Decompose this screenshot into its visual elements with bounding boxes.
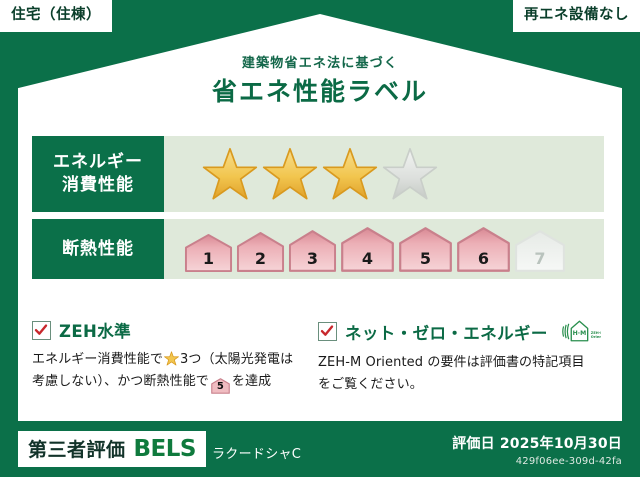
star-icon-filled-1	[202, 147, 258, 201]
criterion-zeh-standard: ZEH水準 エネルギー消費性能で3つ（太陽光発電は考慮しない）、かつ断熱性能で5…	[32, 318, 318, 397]
criterion-body-zeh-post: を達成	[232, 374, 271, 389]
insulation-grade-6: 6	[456, 226, 511, 273]
star-rating	[202, 147, 438, 201]
criterion-header: ネット・ゼロ・エネルギー H·M ZEH-M Oriented	[318, 318, 592, 345]
renewable-energy-tag: 再エネ設備なし	[513, 0, 640, 32]
metric-row-insulation: 断熱性能 1	[32, 219, 604, 279]
insulation-grade-label-5: 5	[420, 249, 431, 268]
insulation-grade-label-2: 2	[255, 249, 266, 268]
metric-value-energy-consumption	[164, 136, 604, 212]
energy-performance-label: 住宅（住棟） 再エネ設備なし 建築物省エネ法に基づく 省エネ性能ラベル エネルギ…	[0, 0, 640, 477]
label-title-block: 建築物省エネ法に基づく 省エネ性能ラベル	[0, 56, 640, 106]
house-badge-icon-inline: 5	[211, 378, 230, 394]
criterion-body-zeh: エネルギー消費性能で3つ（太陽光発電は考慮しない）、かつ断熱性能で5を達成	[32, 349, 306, 394]
evaluation-date: 評価日 2025年10月30日	[452, 433, 622, 453]
title-subtitle: 建築物省エネ法に基づく	[0, 56, 640, 72]
page-title: 省エネ性能ラベル	[0, 78, 640, 107]
metric-label-line-2: 消費性能	[53, 174, 143, 197]
insulation-grade-4: 4	[340, 226, 395, 273]
insulation-grade-label-7: 7	[534, 249, 545, 268]
check-icon	[320, 324, 334, 338]
metric-value-insulation: 1 2 3	[164, 219, 604, 279]
insulation-grade-3: 3	[288, 229, 337, 273]
zehm-logo-hm-text: H·M	[572, 330, 586, 337]
building-type-tag: 住宅（住棟）	[0, 0, 112, 32]
net-zero-energy-checkbox[interactable]	[318, 322, 337, 341]
criterion-title-net-zero: ネット・ゼロ・エネルギー	[345, 320, 548, 344]
criterion-title-zeh: ZEH水準	[59, 318, 131, 342]
building-name: ラクードシャC	[212, 443, 301, 462]
insulation-grade-1: 1	[184, 233, 233, 273]
zehm-logo-line1: ZEH-M	[591, 331, 601, 335]
house-badge-value: 5	[217, 381, 224, 392]
metric-label-line-1: エネルギー	[53, 151, 143, 174]
bels-badge: 第三者評価 BELS	[18, 431, 206, 467]
evaluation-date-label: 評価日	[452, 436, 495, 452]
check-icon	[34, 323, 48, 337]
metric-label-energy-consumption: エネルギー 消費性能	[32, 136, 164, 212]
criteria-section: ZEH水準 エネルギー消費性能で3つ（太陽光発電は考慮しない）、かつ断熱性能で5…	[32, 318, 604, 397]
zehm-oriented-logo-icon: H·M ZEH-M Oriented	[561, 318, 601, 345]
criterion-body-net-zero: ZEH-M Oriented の要件は評価書の特記項目をご覧ください。	[318, 352, 592, 397]
star-icon-empty-4	[382, 147, 438, 201]
insulation-grade-label-6: 6	[478, 249, 489, 268]
star-icon-filled-2	[262, 147, 318, 201]
evaluation-info: 評価日 2025年10月30日 429f06ee-309d-42fa	[452, 433, 622, 467]
metric-row-energy-consumption: エネルギー 消費性能	[32, 136, 604, 212]
insulation-grade-2: 2	[236, 231, 285, 273]
star-icon-inline	[164, 351, 179, 366]
metrics-section: エネルギー 消費性能	[32, 136, 604, 286]
insulation-grade-7: 7	[514, 229, 566, 273]
label-footer: 第三者評価 BELS ラクードシャC 評価日 2025年10月30日 429f0…	[0, 421, 640, 477]
evaluation-id: 429f06ee-309d-42fa	[452, 456, 622, 467]
insulation-grade-5: 5	[398, 226, 453, 273]
zehm-logo-line2: Oriented	[591, 335, 601, 339]
criterion-net-zero-energy: ネット・ゼロ・エネルギー H·M ZEH-M Oriented ZEH-M Or…	[318, 318, 604, 397]
bels-mark-label: BELS	[134, 436, 196, 462]
insulation-grade-label-4: 4	[362, 249, 373, 268]
bels-prefix-label: 第三者評価	[28, 435, 126, 462]
insulation-grade-label-3: 3	[307, 249, 318, 268]
evaluation-date-value: 2025年10月30日	[500, 436, 622, 452]
zeh-standard-checkbox[interactable]	[32, 321, 51, 340]
criterion-body-zeh-pre: エネルギー消費性能で	[32, 352, 163, 367]
metric-label-insulation: 断熱性能	[32, 219, 164, 279]
criterion-header: ZEH水準	[32, 318, 306, 342]
insulation-grade-scale: 1 2 3	[184, 226, 566, 273]
star-icon-filled-3	[322, 147, 378, 201]
insulation-grade-label-1: 1	[203, 249, 214, 268]
